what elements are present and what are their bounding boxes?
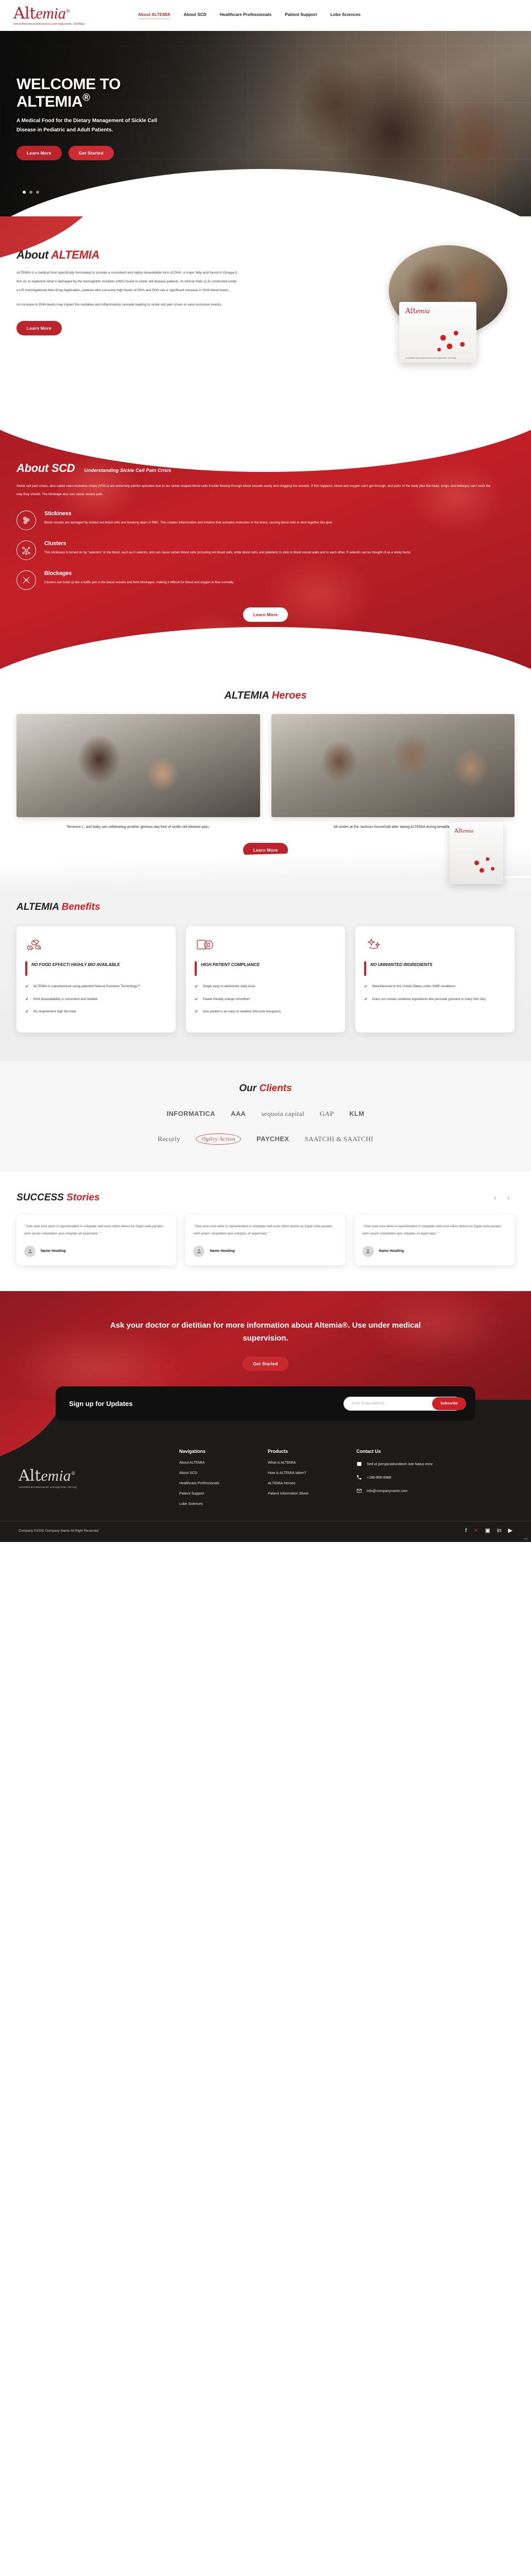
youtube-icon[interactable]: ▶	[508, 1528, 512, 1534]
story-quote: " Duis aute irure dolor in reprehenderit…	[24, 1223, 168, 1238]
hero-banner: WELCOME TO ALTEMIA® A Medical Food for t…	[0, 31, 531, 216]
about-learn-more-button[interactable]: Learn More	[16, 321, 62, 335]
stories-next-button[interactable]: ›	[507, 1194, 515, 1201]
check-icon: ✔	[364, 983, 368, 990]
benefit-title: NO FOOD EFFECT/ HIGHLY BIO AVAILABLE	[31, 961, 120, 968]
product-box-caption: (emulsified-docosahexaenoic acid triglyc…	[405, 357, 456, 359]
benefit-bullet-text: Palate friendly orange smoothie*	[203, 996, 250, 1003]
benefit-title: NO UNWANTED INGREDIENTS	[370, 961, 433, 968]
stories-grid: " Duis aute irure dolor in reprehenderit…	[16, 1215, 515, 1265]
stories-heading-accent: Stories	[66, 1192, 99, 1203]
clients-heading-plain: Our	[239, 1083, 259, 1094]
packet-icon	[195, 936, 336, 956]
footer-logo-part1: Alt	[19, 1467, 41, 1485]
bbox-part1: Alt	[454, 827, 463, 834]
heroes-heading-accent: Heroes	[272, 690, 307, 701]
hero-buttons: Learn More Get Started	[16, 146, 242, 160]
logo-wordmark: Altemia®	[13, 5, 116, 22]
footer-link-healthcare-professionals[interactable]: Healthcare Professionals	[179, 1482, 256, 1485]
product-box-graphic	[431, 325, 471, 358]
instagram-icon[interactable]: ▣	[485, 1528, 490, 1534]
clients-heading-accent: Clients	[259, 1083, 292, 1094]
scd-item-text: Blood vessels are damaged by sickled red…	[44, 519, 333, 527]
benefit-bullet-list: ✔ALTEMIA is manufactured using patented …	[25, 983, 167, 1015]
benefits-box-logo: Altemia	[450, 822, 503, 834]
client-logo-klm: KLM	[349, 1110, 364, 1117]
footer-email-row[interactable]: info@companyname.com	[356, 1488, 459, 1495]
benefit-card-compliance: HIGH PATIENT COMPLIANCE ✔Single easy to …	[186, 926, 345, 1032]
social-links: f ✕ ▣ in ▶	[465, 1528, 512, 1534]
footer-phone-row[interactable]: +188-888-8888	[356, 1475, 459, 1481]
benefit-bullet-list: ✔Manufactured in the United States under…	[364, 983, 506, 1003]
site-header: Altemia® (emulsified-docosahexaenoic aci…	[0, 0, 531, 31]
check-icon: ✔	[195, 996, 198, 1003]
version-badge: v01	[524, 1538, 528, 1541]
footer-link-patient-support[interactable]: Patient Support	[179, 1492, 256, 1496]
heroes-heading: ALTEMIA Heroes	[16, 690, 515, 702]
benefit-card-bioavailable: NO FOOD EFFECT/ HIGHLY BIO AVAILABLE ✔AL…	[16, 926, 176, 1032]
check-icon: ✔	[364, 996, 368, 1003]
story-author: Name Heading	[41, 1249, 66, 1253]
check-icon: ✔	[195, 983, 198, 990]
footer-link-altemia-heroes[interactable]: ALTEMIA Heroes	[268, 1482, 345, 1485]
scd-item-blockages: Blockages Clusters can build up like a t…	[16, 570, 515, 590]
benefits-grid: NO FOOD EFFECT/ HIGHLY BIO AVAILABLE ✔AL…	[16, 926, 515, 1032]
check-icon: ✔	[25, 1008, 29, 1015]
clients-logo-row-1: INFORMATICA AAA sequoia capital GAP KLM	[16, 1110, 515, 1118]
benefit-bullet: ✔Manufactured in the United States under…	[364, 983, 506, 990]
scd-heading-plain: About	[16, 462, 52, 474]
site-footer: Sign up for Updates Subscribe Altemia® (…	[0, 1400, 531, 1542]
avatar	[193, 1246, 204, 1257]
stories-prev-button[interactable]: ‹	[494, 1194, 501, 1201]
footer-logo-part2: emia	[41, 1467, 71, 1484]
nav-item-lobe-sciences[interactable]: Lobe Sciences	[331, 12, 361, 19]
nav-item-about-scd[interactable]: About SCD	[184, 12, 207, 19]
footer-link-lobe-sciences[interactable]: Lobe Sciences	[179, 1502, 256, 1506]
client-logo-aaa: AAA	[231, 1110, 246, 1117]
heroes-grid: Terrence L. and baby son celebrating ano…	[16, 714, 515, 832]
avatar	[363, 1246, 374, 1257]
benefit-bullet: ✔Does not contain oxidative ingredients …	[364, 996, 506, 1003]
box-logo-part2: emia	[416, 308, 430, 315]
about-heading: About ALTEMIA	[16, 248, 238, 262]
benefit-title: HIGH PATIENT COMPLIANCE	[201, 961, 260, 968]
stories-heading-plain: SUCCESS	[16, 1192, 66, 1203]
footer-contact-column: Contact Us Sed ut perspiciatisndeom iste…	[356, 1449, 459, 1513]
benefit-title-row: NO UNWANTED INGREDIENTS	[364, 961, 506, 976]
story-card: " Duis aute irure dolor in reprehenderit…	[185, 1215, 345, 1265]
benefit-title-row: NO FOOD EFFECT/ HIGHLY BIO AVAILABLE	[25, 961, 167, 976]
benefit-bullet-text: ALTEMIA is manufactured using patented N…	[33, 983, 141, 990]
envelope-icon	[356, 1488, 362, 1494]
scd-item-list: Stickiness Blood vessels are damaged by …	[16, 511, 515, 590]
hero-registered: ®	[82, 92, 90, 104]
sparkle-icon	[364, 936, 506, 956]
story-author: Name Heading	[210, 1249, 235, 1253]
footer-link-about-scd[interactable]: About SCD	[179, 1471, 256, 1475]
client-logo-sequoia-capital: sequoia capital	[261, 1110, 304, 1118]
client-logo-informatica: INFORMATICA	[167, 1110, 215, 1117]
about-body: ALTEMIA is a medical food specifically f…	[16, 269, 238, 310]
scd-item-title: Clusters	[44, 540, 412, 547]
facebook-icon[interactable]: f	[465, 1528, 467, 1534]
benefits-product-box: Altemia	[450, 822, 503, 884]
about-product-box: Altemia (emulsified-docosahexaenoic acid…	[399, 302, 476, 363]
scd-item-stickiness: Stickiness Blood vessels are damaged by …	[16, 511, 515, 530]
benefit-title-row: HIGH PATIENT COMPLIANCE	[195, 961, 336, 976]
benefit-bullet: ✔Palate friendly orange smoothie*	[195, 996, 336, 1003]
footer-logo-tagline: (emulsified-docosahexaenoic acid triglyc…	[19, 1486, 168, 1488]
scd-heading-row: About SCD Understanding Sickle Cell Pain…	[16, 462, 515, 475]
map-icon	[356, 1461, 362, 1467]
cluster-icon	[16, 540, 36, 560]
phone-icon	[356, 1475, 362, 1480]
about-heading-plain: About	[16, 248, 51, 261]
benefit-bullet-text: One packet is an easy to swallow 5ml (on…	[203, 1008, 281, 1015]
about-altemia-section: About ALTEMIA ALTEMIA is a medical food …	[0, 216, 531, 423]
hero-story-photo	[271, 714, 515, 817]
box-logo-part1: Alt	[405, 307, 416, 315]
story-card: " Duis aute irure dolor in reprehenderit…	[355, 1215, 515, 1265]
doctor-cta-section: Ask your doctor or dietitian for more in…	[0, 1291, 531, 1400]
product-box-logo: Altemia	[399, 302, 476, 316]
doctor-cta-heading: Ask your doctor or dietitian for more in…	[101, 1319, 431, 1345]
doctor-cta-get-started-button[interactable]: Get Started	[243, 1357, 288, 1371]
about-text-column: About ALTEMIA ALTEMIA is a medical food …	[16, 248, 238, 387]
scd-item-clusters: Clusters This stickiness is turned on by…	[16, 540, 515, 560]
copyright-text: Company ©2025 Company Name All Right Res…	[19, 1529, 98, 1533]
hero-learn-more-button[interactable]: Learn More	[16, 146, 62, 160]
scd-learn-more-button[interactable]: Learn More	[243, 607, 288, 622]
scd-heading-accent: SCD	[52, 462, 75, 474]
leaves-icon	[25, 936, 167, 956]
footer-link-how-is-altemia-taken[interactable]: How is ALTEMIA taken?	[268, 1471, 345, 1475]
about-media-column: Altemia (emulsified-docosahexaenoic acid…	[246, 248, 515, 387]
benefit-bullet-text: Manufactured in the United States under …	[372, 983, 456, 990]
footer-contact-heading: Contact Us	[356, 1449, 459, 1454]
story-quote: " Duis aute irure dolor in reprehenderit…	[193, 1223, 337, 1238]
newsletter-subscribe-button[interactable]: Subscribe	[432, 1397, 466, 1410]
nav-item-patient-support[interactable]: Patient Support	[285, 12, 317, 19]
success-stories-section: SUCCESS Stories ‹ › " Duis aute irure do…	[0, 1172, 531, 1291]
client-logo-saatchi: SAATCHI & SAATCHI	[305, 1135, 373, 1143]
benefit-bullet: ✔ALTEMIA is manufactured using patented …	[25, 983, 167, 990]
benefit-card-ingredients: NO UNWANTED INGREDIENTS ✔Manufactured in…	[355, 926, 515, 1032]
benefit-bullet-text: Does not contain oxidative ingredients l…	[372, 996, 487, 1003]
carousel-dot-2[interactable]	[29, 191, 32, 194]
benefit-bullet-text: DHA bioavailability is consistent and re…	[33, 996, 98, 1003]
benefit-bullet: ✔No requirement high fat meal	[25, 1008, 167, 1015]
footer-email: info@companyname.com	[367, 1488, 407, 1495]
footer-phone: +188-888-8888	[367, 1475, 391, 1481]
hero-story-caption: Terrence L. and baby son celebrating ano…	[16, 824, 260, 832]
about-paragraph-1: ALTEMIA is a medical food specifically f…	[16, 269, 238, 295]
bbox-part2: emia	[463, 828, 473, 834]
benefit-bullet-list: ✔Single easy to administer daily dose ✔P…	[195, 983, 336, 1015]
newsletter-heading: Sign up for Updates	[69, 1400, 133, 1408]
newsletter-signup: Sign up for Updates Subscribe	[56, 1386, 475, 1421]
about-scd-section: About SCD Understanding Sickle Cell Pain…	[0, 423, 531, 669]
x-icon[interactable]: ✕	[473, 1528, 478, 1534]
stories-arrows: ‹ ›	[494, 1194, 515, 1201]
footer-link-what-is-altemia[interactable]: What is ALTEMIA	[268, 1461, 345, 1465]
client-logo-gap: GAP	[320, 1110, 334, 1118]
benefits-heading: ALTEMIA Benefits	[16, 902, 515, 913]
footer-brand: Altemia® (emulsified-docosahexaenoic aci…	[19, 1449, 168, 1513]
scd-lead-text: Sickle cell pain crises, also called vas…	[16, 482, 495, 498]
benefits-box-graphic	[467, 852, 499, 879]
scd-item-title: Blockages	[44, 570, 234, 577]
benefit-bullet-text: No requirement high fat meal	[33, 1008, 76, 1015]
story-quote: " Duis aute irure dolor in reprehenderit…	[363, 1223, 507, 1238]
main-nav: About ALTEMIA About SCD Healthcare Profe…	[138, 12, 361, 19]
story-card: " Duis aute irure dolor in reprehenderit…	[16, 1215, 176, 1265]
check-icon: ✔	[195, 1008, 198, 1015]
hero-story-card: Terrence L. and baby son celebrating ano…	[16, 714, 260, 832]
altemia-benefits-section: Altemia ALTEMIA Benefits NO FOOD EFFECT/…	[0, 878, 531, 1061]
benefit-bullet: ✔DHA bioavailability is consistent and r…	[25, 996, 167, 1003]
footer-products-heading: Products	[268, 1449, 345, 1454]
about-heading-accent: ALTEMIA	[51, 248, 99, 261]
hero-title-line1: WELCOME TO	[16, 76, 121, 93]
client-logo-recurly: Recurly	[158, 1135, 180, 1143]
hero-get-started-button[interactable]: Get Started	[68, 146, 114, 160]
story-author: Name Heading	[379, 1249, 404, 1253]
hero-title: WELCOME TO ALTEMIA®	[16, 76, 242, 110]
benefit-bullet: ✔Single easy to administer daily dose	[195, 983, 336, 990]
cells-icon	[16, 511, 36, 530]
scd-subtitle: Understanding Sickle Cell Pain Crisis	[84, 468, 171, 473]
linkedin-icon[interactable]: in	[497, 1528, 502, 1534]
hero-content: WELCOME TO ALTEMIA® A Medical Food for t…	[0, 31, 242, 160]
footer-logo-registered: ®	[71, 1471, 76, 1477]
benefit-bullet-text: Single easy to administer daily dose	[203, 983, 255, 990]
benefits-heading-plain: ALTEMIA	[16, 902, 62, 912]
nav-item-healthcare-professionals[interactable]: Healthcare Professionals	[220, 12, 271, 19]
footer-logo: Altemia®	[19, 1468, 168, 1484]
clients-logo-row-2: Recurly Ogilvy Action PAYCHEX SAATCHI & …	[16, 1133, 515, 1145]
nav-item-about-altemia[interactable]: About ALTEMIA	[138, 12, 170, 19]
hero-story-card: All smiles at the Jackson household afte…	[271, 714, 515, 832]
scd-item-text: Clusters can build up like a traffic jam…	[44, 579, 234, 587]
benefit-accent-bar	[364, 961, 366, 976]
check-icon: ✔	[25, 983, 29, 990]
footer-nav-heading: Navigations	[179, 1449, 256, 1454]
hero-subtitle: A Medical Food for the Dietary Managemen…	[16, 116, 176, 134]
footer-products-column: Products What is ALTEMIA How is ALTEMIA …	[268, 1449, 345, 1513]
logo-part1: Alt	[13, 4, 36, 23]
scd-item-text: This stickiness is turned on by "selecti…	[44, 549, 412, 557]
about-paragraph-2: An increase in DHA levels may impact the…	[16, 301, 238, 310]
stories-heading: SUCCESS Stories	[16, 1192, 100, 1204]
carousel-dot-3[interactable]	[36, 191, 39, 194]
our-clients-section: Our Clients INFORMATICA AAA sequoia capi…	[0, 1061, 531, 1172]
hero-title-line2: ALTEMIA	[16, 93, 82, 110]
logo-part2: emia	[36, 4, 65, 22]
logo-registered: ®	[66, 9, 71, 14]
client-logo-paychex: PAYCHEX	[256, 1135, 289, 1143]
client-logo-ogilvy-action: Ogilvy Action	[196, 1133, 241, 1145]
check-icon: ✔	[25, 996, 29, 1003]
footer-bottom-bar: Company ©2025 Company Name All Right Res…	[0, 1521, 531, 1542]
carousel-dot-1[interactable]	[23, 191, 26, 194]
benefit-accent-bar	[195, 961, 197, 976]
avatar	[24, 1246, 36, 1257]
heroes-heading-plain: ALTEMIA	[224, 690, 271, 701]
blockage-icon	[16, 570, 36, 590]
benefit-bullet: ✔One packet is an easy to swallow 5ml (o…	[195, 1008, 336, 1015]
hero-carousel-dots[interactable]	[23, 191, 39, 194]
page-root: Altemia® (emulsified-docosahexaenoic aci…	[0, 0, 531, 1542]
benefit-accent-bar	[25, 961, 27, 976]
footer-address-row: Sed ut perspiciatisndeom iste Natus erro…	[356, 1461, 459, 1468]
footer-link-about-altemia[interactable]: About ALTEMIA	[179, 1461, 256, 1465]
footer-address: Sed ut perspiciatisndeom iste Natus erro…	[367, 1461, 433, 1468]
clients-heading: Our Clients	[16, 1083, 515, 1094]
benefits-heading-accent: Benefits	[62, 902, 100, 912]
scd-heading: About SCD	[16, 462, 75, 475]
logo-tagline: (emulsified-docosahexaenoic acid triglyc…	[13, 23, 116, 26]
scd-item-title: Stickiness	[44, 511, 333, 517]
hero-story-photo	[16, 714, 260, 817]
footer-link-patient-information-sheet[interactable]: Patient Information Sheet	[268, 1492, 345, 1496]
footer-navigations-column: Navigations About ALTEMIA About SCD Heal…	[179, 1449, 256, 1513]
site-logo[interactable]: Altemia® (emulsified-docosahexaenoic aci…	[13, 5, 116, 26]
